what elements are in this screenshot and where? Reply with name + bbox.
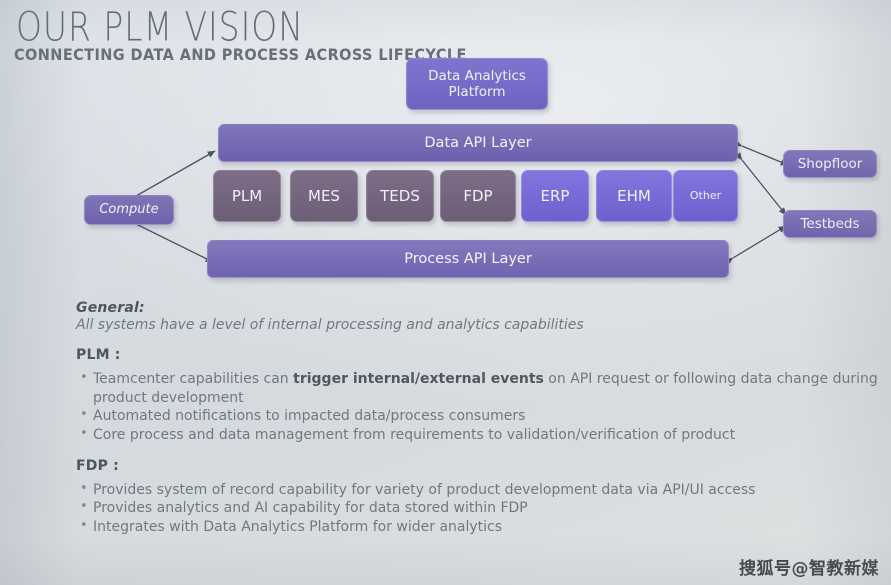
plm-bullet-1: Teamcenter capabilities can trigger inte… <box>76 370 888 407</box>
plm-bullet-1-bold: trigger internal/external events <box>293 371 544 387</box>
node-system-other[interactable]: Other <box>673 170 738 222</box>
node-system-erp[interactable]: ERP <box>521 170 589 222</box>
node-system-fdp[interactable]: FDP <box>440 170 516 222</box>
node-data-analytics-platform[interactable]: Data Analytics Platform <box>406 58 548 110</box>
page-title: OUR PLM VISION <box>16 4 304 51</box>
page-subtitle: CONNECTING DATA AND PROCESS ACROSS LIFEC… <box>14 47 467 64</box>
general-line: All systems have a level of internal pro… <box>76 316 888 334</box>
dap-line-1: Data Analytics <box>428 68 526 84</box>
node-testbeds[interactable]: Testbeds <box>783 210 877 238</box>
fdp-bullet-2: Provides analytics and AI capability for… <box>76 499 888 518</box>
heading-fdp: FDP : <box>76 458 888 474</box>
heading-general: General: <box>76 300 888 316</box>
plm-bullet-3: Core process and data management from re… <box>76 426 888 445</box>
node-system-ehm[interactable]: EHM <box>596 170 672 222</box>
plm-bullet-1-pre: Teamcenter capabilities can <box>93 371 293 387</box>
node-label: Data Analytics Platform <box>428 68 526 101</box>
node-system-plm[interactable]: PLM <box>213 170 281 222</box>
dap-line-2: Platform <box>449 84 506 100</box>
heading-plm: PLM : <box>76 347 888 363</box>
presentation-slide: OUR PLM VISION CONNECTING DATA AND PROCE… <box>0 0 891 585</box>
node-compute[interactable]: Compute <box>84 195 174 225</box>
watermark: 搜狐号@智教新媒 <box>739 554 879 579</box>
slide-body-text: General: All systems have a level of int… <box>76 300 888 536</box>
node-shopfloor[interactable]: Shopfloor <box>783 150 877 178</box>
node-system-mes[interactable]: MES <box>290 170 358 222</box>
plm-bullet-2: Automated notifications to impacted data… <box>76 407 888 426</box>
node-process-api-layer[interactable]: Process API Layer <box>207 240 729 278</box>
node-data-api-layer[interactable]: Data API Layer <box>218 124 738 162</box>
fdp-bullet-3: Integrates with Data Analytics Platform … <box>76 518 888 537</box>
node-system-teds[interactable]: TEDS <box>366 170 434 222</box>
fdp-bullet-1: Provides system of record capability for… <box>76 481 888 500</box>
